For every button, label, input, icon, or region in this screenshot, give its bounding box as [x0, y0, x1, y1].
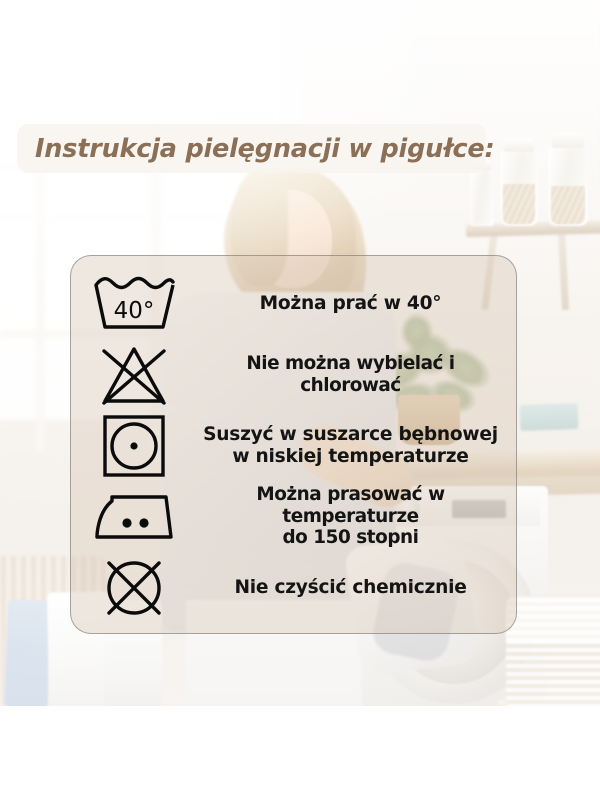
storage-jar-lid	[552, 133, 584, 148]
window-mullion	[36, 150, 45, 450]
care-text-dry-clean-line1: Nie czyścić chemicznie	[234, 577, 466, 598]
bottom-white-margin	[0, 706, 600, 810]
care-text-bleach: Nie można wybielać i chlorować	[197, 353, 516, 396]
care-text-tumble-dry-line2: w niskiej temperaturze	[197, 446, 504, 468]
svg-text:40°: 40°	[114, 298, 155, 324]
care-text-iron-line2: do 150 stopni	[197, 527, 504, 549]
storage-jar-lid	[504, 138, 534, 152]
title-band: Instrukcja pielęgnacji w pigułce:	[17, 124, 486, 173]
care-row-wash: 40° Można prać w 40°	[71, 268, 516, 339]
care-text-tumble-dry-line1: Suszyć w suszarce bębnowej	[203, 424, 498, 445]
rope-basket-rim	[506, 596, 600, 642]
iron-two-dots-icon	[71, 491, 197, 543]
storage-jar	[470, 168, 494, 226]
tumble-dry-low-icon	[71, 413, 197, 479]
storage-jar-contents	[503, 184, 535, 224]
care-text-tumble-dry: Suszyć w suszarce bębnowej w niskiej tem…	[197, 424, 516, 468]
care-text-wash-line1: Można prać w 40°	[260, 293, 442, 314]
care-row-tumble-dry: Suszyć w suszarce bębnowej w niskiej tem…	[71, 410, 516, 481]
care-text-iron: Można prasować w temperaturze do 150 sto…	[197, 484, 516, 549]
storage-jar-contents	[551, 186, 585, 224]
care-row-iron: Można prasować w temperaturze do 150 sto…	[71, 481, 516, 552]
do-not-dry-clean-icon	[71, 555, 197, 621]
care-text-wash: Można prać w 40°	[197, 293, 516, 315]
do-not-bleach-triangle-icon	[71, 343, 197, 407]
care-text-dry-clean: Nie czyścić chemicznie	[197, 577, 516, 599]
page-title: Instrukcja pielęgnacji w pigułce:	[35, 134, 494, 164]
folded-towel	[520, 403, 579, 431]
care-text-bleach-line1: Nie można wybielać i chlorować	[246, 353, 454, 396]
care-instructions-panel: 40° Można prać w 40° Nie można wybielać …	[70, 255, 517, 634]
hanging-blue-cloth	[4, 599, 52, 706]
care-text-iron-line1: Można prasować w temperaturze	[256, 484, 444, 527]
wash-tub-40-icon: 40°	[71, 275, 197, 333]
care-row-bleach: Nie można wybielać i chlorować	[71, 339, 516, 410]
infographic-canvas: Instrukcja pielęgnacji w pigułce: 40° Mo…	[0, 0, 600, 810]
care-row-dry-clean: Nie czyścić chemicznie	[71, 552, 516, 623]
